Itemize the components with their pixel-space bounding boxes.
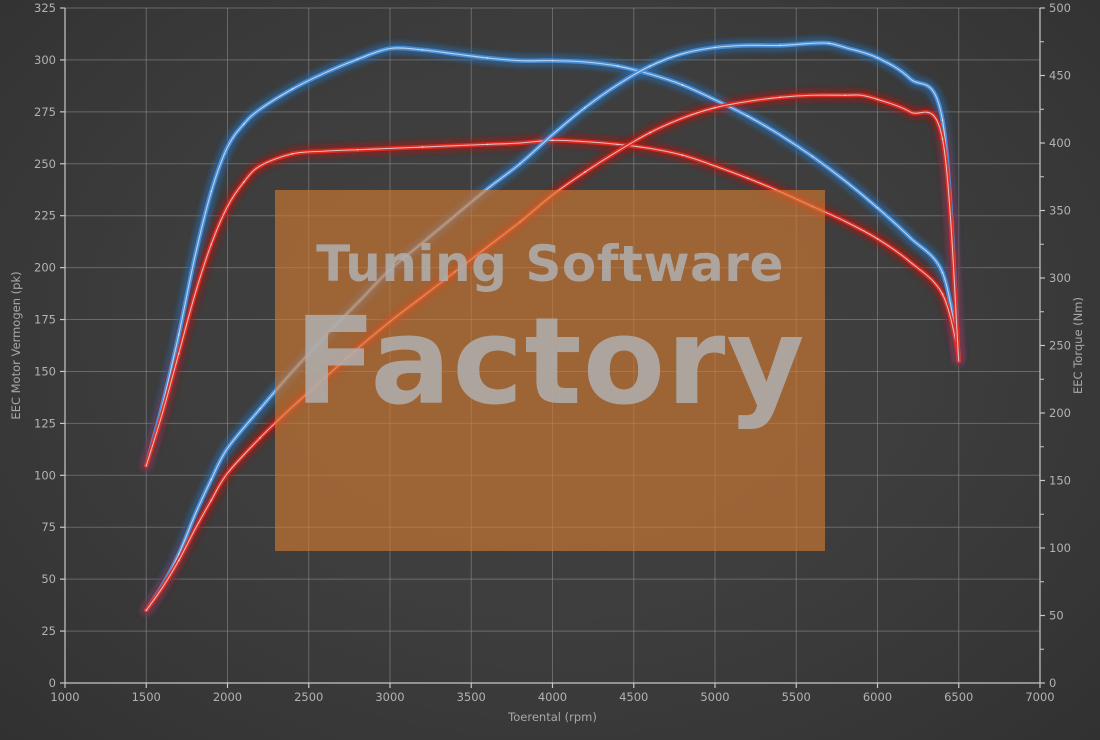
dyno-chart: 0255075100125150175200225250275300325050…: [0, 0, 1100, 740]
svg-text:6500: 6500: [944, 690, 973, 704]
svg-text:225: 225: [34, 209, 56, 223]
svg-text:25: 25: [41, 624, 56, 638]
svg-text:Toerental (rpm): Toerental (rpm): [507, 710, 597, 724]
svg-text:125: 125: [34, 416, 56, 430]
svg-text:200: 200: [34, 261, 56, 275]
svg-text:175: 175: [34, 313, 56, 327]
svg-text:500: 500: [1049, 1, 1071, 15]
svg-text:0: 0: [49, 676, 56, 690]
svg-text:2500: 2500: [294, 690, 323, 704]
svg-text:275: 275: [34, 105, 56, 119]
svg-text:150: 150: [1049, 474, 1071, 488]
svg-text:4000: 4000: [538, 690, 567, 704]
svg-text:4500: 4500: [619, 690, 648, 704]
svg-text:3500: 3500: [457, 690, 486, 704]
svg-text:400: 400: [1049, 136, 1071, 150]
svg-text:2000: 2000: [213, 690, 242, 704]
svg-text:100: 100: [1049, 541, 1071, 555]
svg-text:EEC Motor Vermogen (pk): EEC Motor Vermogen (pk): [9, 271, 23, 419]
dyno-chart-screen: 0255075100125150175200225250275300325050…: [0, 0, 1100, 740]
svg-text:300: 300: [34, 53, 56, 67]
svg-text:250: 250: [1049, 339, 1071, 353]
svg-text:5000: 5000: [700, 690, 729, 704]
svg-text:100: 100: [34, 468, 56, 482]
svg-text:75: 75: [41, 520, 56, 534]
svg-text:0: 0: [1049, 676, 1056, 690]
svg-text:1500: 1500: [132, 690, 161, 704]
svg-text:6000: 6000: [863, 690, 892, 704]
svg-text:250: 250: [34, 157, 56, 171]
svg-text:350: 350: [1049, 204, 1071, 218]
svg-text:325: 325: [34, 1, 56, 15]
svg-text:150: 150: [34, 364, 56, 378]
svg-text:5500: 5500: [782, 690, 811, 704]
svg-text:1000: 1000: [50, 690, 79, 704]
svg-text:200: 200: [1049, 406, 1071, 420]
svg-text:EEC Torque (Nm): EEC Torque (Nm): [1071, 297, 1085, 394]
svg-text:300: 300: [1049, 271, 1071, 285]
svg-text:7000: 7000: [1025, 690, 1054, 704]
svg-text:50: 50: [1049, 609, 1064, 623]
svg-text:50: 50: [41, 572, 56, 586]
svg-text:3000: 3000: [375, 690, 404, 704]
svg-text:450: 450: [1049, 69, 1071, 83]
